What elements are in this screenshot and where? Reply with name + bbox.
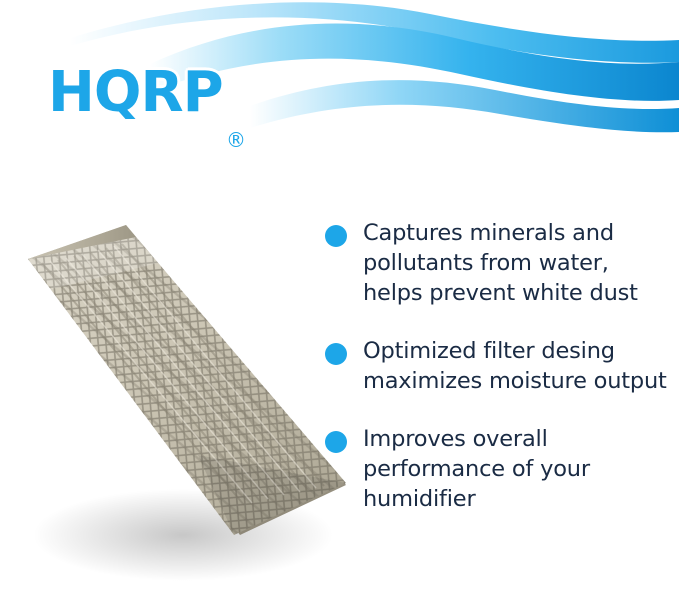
- feature-text: Captures minerals and pollutants from wa…: [363, 218, 673, 308]
- registered-trademark-icon: ®: [226, 128, 246, 152]
- feature-text: Improves overall performance of your hum…: [363, 424, 673, 514]
- product-photo: [8, 205, 348, 590]
- bullet-dot-icon: [325, 225, 347, 247]
- list-item: Improves overall performance of your hum…: [325, 424, 673, 514]
- hqrp-logo: HQRP ®: [48, 62, 258, 124]
- list-item: Captures minerals and pollutants from wa…: [325, 218, 673, 308]
- bullet-dot-icon: [325, 431, 347, 453]
- feature-list: Captures minerals and pollutants from wa…: [325, 218, 673, 542]
- list-item: Optimized filter desing maximizes moistu…: [325, 336, 673, 396]
- logo-wordmark: HQRP: [48, 62, 258, 124]
- product-marketing-image: HQRP ®: [0, 0, 679, 593]
- bullet-dot-icon: [325, 343, 347, 365]
- feature-text: Optimized filter desing maximizes moistu…: [363, 336, 673, 396]
